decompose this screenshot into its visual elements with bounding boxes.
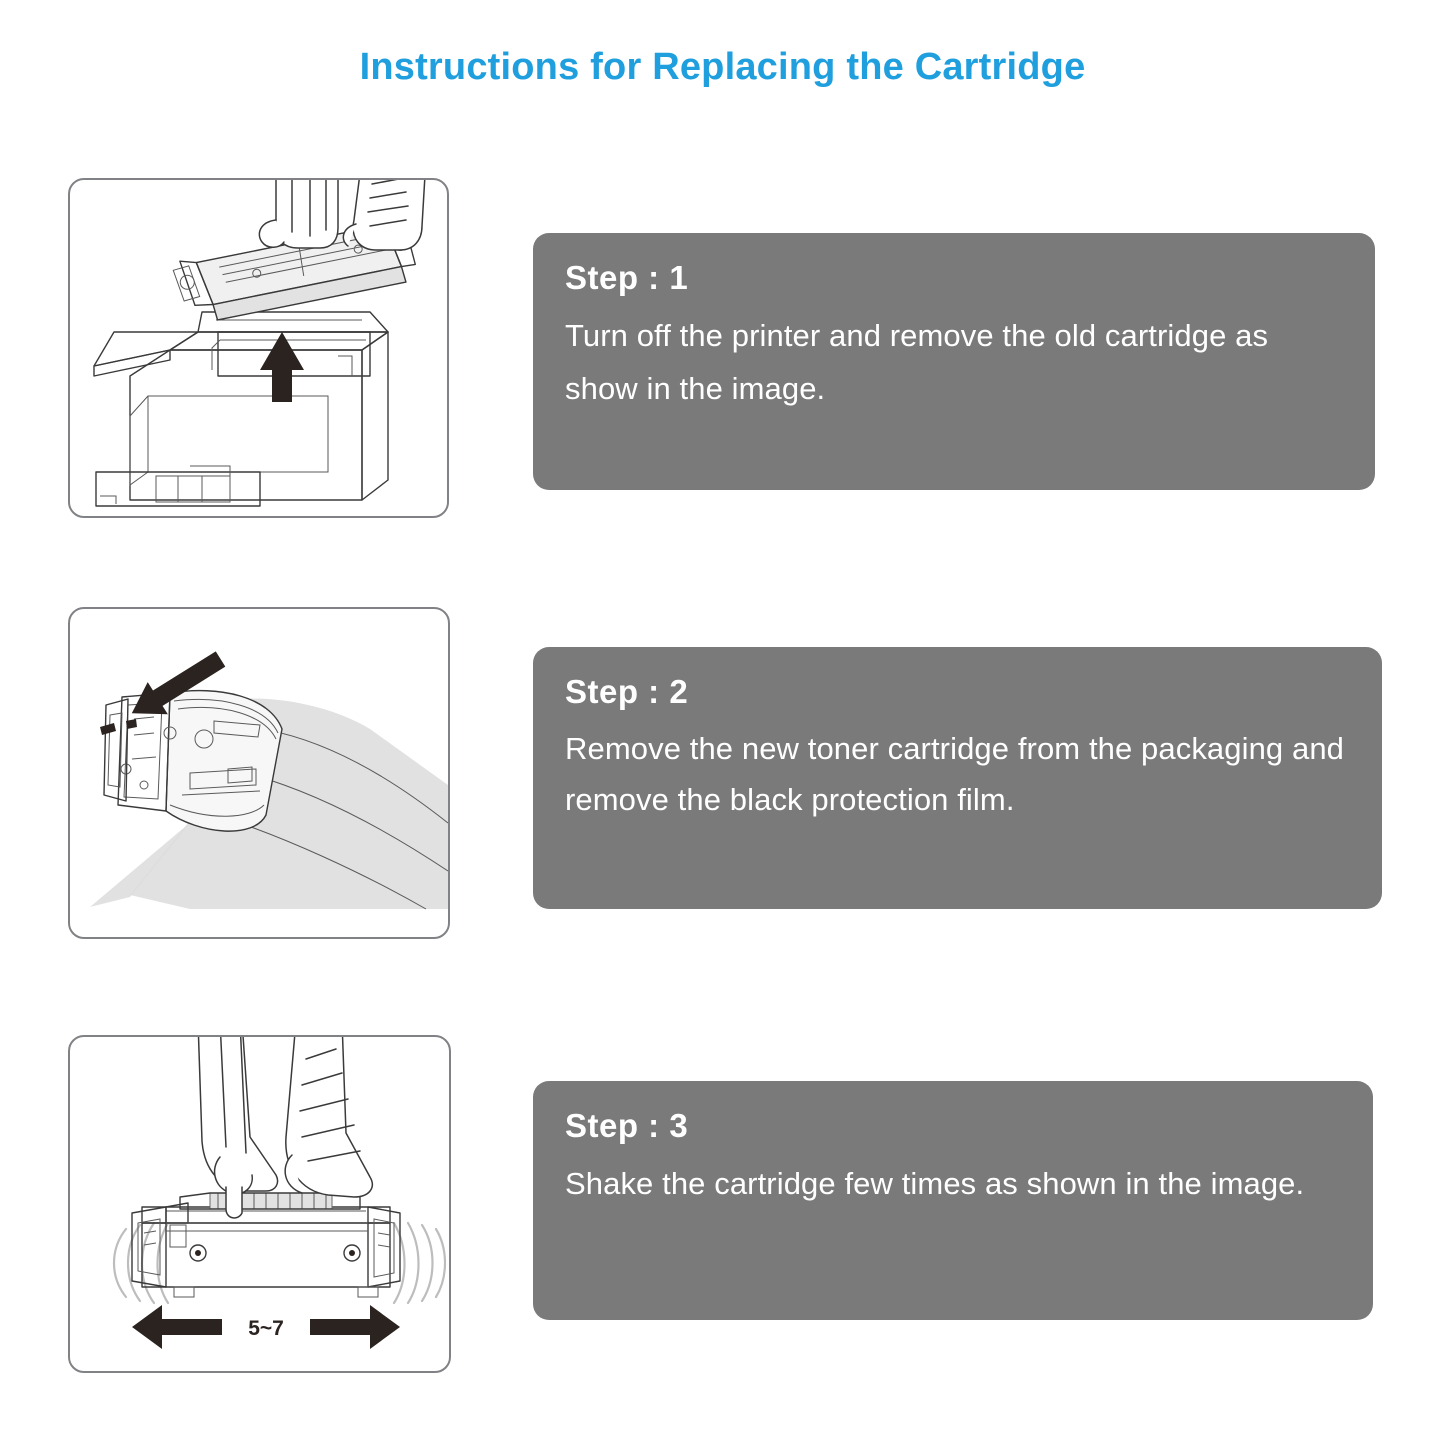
- shake-count-label: 5~7: [248, 1317, 284, 1340]
- step-body: Turn off the printer and remove the old …: [565, 309, 1341, 416]
- step-label: Step : 2: [565, 673, 1348, 711]
- page-title: Instructions for Replacing the Cartridge: [0, 46, 1445, 89]
- hand-left: [259, 180, 338, 248]
- step-row: Step : 1 Turn off the printer and remove…: [0, 178, 1445, 518]
- shake-range-arrow: 5~7: [132, 1305, 400, 1349]
- step-card: Step : 1 Turn off the printer and remove…: [533, 233, 1375, 490]
- step-card: Step : 3 Shake the cartridge few times a…: [533, 1081, 1373, 1320]
- cartridge-protection-film-illustration: [68, 607, 450, 939]
- step-row: Step : 2 Remove the new toner cartridge …: [0, 607, 1445, 939]
- step-row: 5~7 Step : 3 Shake the cartridge few tim…: [0, 1035, 1445, 1373]
- up-arrow-icon: [260, 332, 304, 402]
- cartridge-shake-illustration-svg: 5~7: [70, 1037, 449, 1371]
- hand-right: [343, 180, 426, 250]
- step-label: Step : 1: [565, 259, 1341, 297]
- hand-left: [198, 1037, 278, 1218]
- printer-illustration-svg: [70, 180, 447, 516]
- hand-right: [285, 1037, 372, 1197]
- step-label: Step : 3: [565, 1107, 1339, 1145]
- step-card: Step : 2 Remove the new toner cartridge …: [533, 647, 1382, 909]
- step-body: Remove the new toner cartridge from the …: [565, 723, 1348, 826]
- cartridge-film-illustration-svg: [70, 609, 448, 937]
- motion-lines-right: [394, 1223, 445, 1303]
- printer-cartridge-removal-illustration: [68, 178, 449, 518]
- step-body: Shake the cartridge few times as shown i…: [565, 1157, 1339, 1210]
- cartridge-shake-illustration: 5~7: [68, 1035, 451, 1373]
